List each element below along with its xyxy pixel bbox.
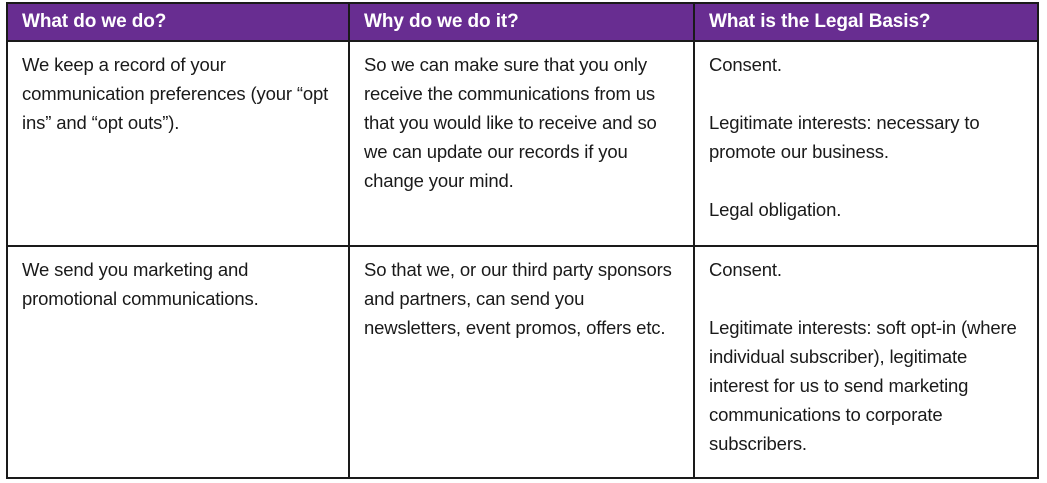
column-header-legal-basis: What is the Legal Basis?: [694, 3, 1038, 41]
page-root: What do we do? Why do we do it? What is …: [0, 0, 1047, 483]
cell-why-do-we-do-it-text: So that we, or our third party sponsors …: [350, 247, 693, 477]
column-header-what-do-we-do: What do we do?: [7, 3, 349, 41]
cell-why-do-we-do-it: So that we, or our third party sponsors …: [349, 246, 694, 478]
table-header-row: What do we do? Why do we do it? What is …: [7, 3, 1038, 41]
column-header-legal-basis-label: What is the Legal Basis?: [695, 4, 1037, 40]
column-header-why-do-we-do-it-label: Why do we do it?: [350, 4, 693, 40]
cell-why-do-we-do-it: So we can make sure that you only receiv…: [349, 41, 694, 246]
cell-what-do-we-do-text: We keep a record of your communication p…: [8, 42, 348, 245]
data-processing-table: What do we do? Why do we do it? What is …: [6, 2, 1039, 479]
cell-legal-basis-text: Consent. Legitimate interests: soft opt-…: [695, 247, 1037, 477]
table-row: We send you marketing and promotional co…: [7, 246, 1038, 478]
cell-legal-basis-text: Consent. Legitimate interests: necessary…: [695, 42, 1037, 245]
cell-what-do-we-do: We send you marketing and promotional co…: [7, 246, 349, 478]
cell-what-do-we-do: We keep a record of your communication p…: [7, 41, 349, 246]
table-header: What do we do? Why do we do it? What is …: [7, 3, 1038, 41]
table-body: We keep a record of your communication p…: [7, 41, 1038, 478]
cell-legal-basis: Consent. Legitimate interests: necessary…: [694, 41, 1038, 246]
cell-why-do-we-do-it-text: So we can make sure that you only receiv…: [350, 42, 693, 245]
column-header-what-do-we-do-label: What do we do?: [8, 4, 348, 40]
cell-what-do-we-do-text: We send you marketing and promotional co…: [8, 247, 348, 477]
table-row: We keep a record of your communication p…: [7, 41, 1038, 246]
cell-legal-basis: Consent. Legitimate interests: soft opt-…: [694, 246, 1038, 478]
column-header-why-do-we-do-it: Why do we do it?: [349, 3, 694, 41]
